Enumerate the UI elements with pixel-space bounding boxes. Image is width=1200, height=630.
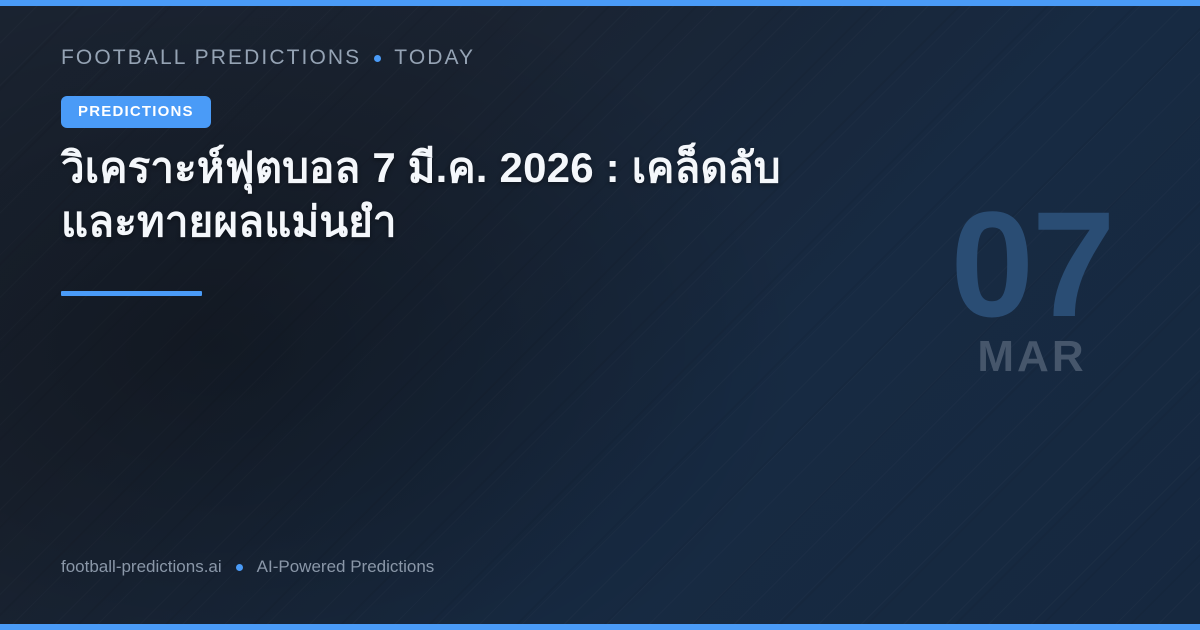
footer-tagline-label: AI-Powered Predictions bbox=[257, 557, 435, 577]
diagonal-shadow-texture bbox=[0, 0, 1200, 630]
diagonal-stripe-texture bbox=[0, 0, 1200, 630]
top-accent-bar bbox=[0, 0, 1200, 6]
kicker-time-label: TODAY bbox=[394, 46, 475, 70]
kicker: FOOTBALL PREDICTIONS TODAY bbox=[61, 46, 475, 70]
vignette-overlay bbox=[0, 0, 1200, 630]
bottom-accent-bar bbox=[0, 624, 1200, 630]
date-watermark: 07 MAR bbox=[922, 200, 1142, 379]
status-badge: PREDICTIONS bbox=[61, 96, 211, 128]
kicker-category-label: FOOTBALL PREDICTIONS bbox=[61, 46, 361, 70]
social-share-card: 07 MAR FOOTBALL PREDICTIONS TODAY PREDIC… bbox=[0, 0, 1200, 630]
title-accent-rule bbox=[61, 291, 202, 296]
bullet-dot-icon bbox=[236, 564, 243, 571]
date-month: MAR bbox=[922, 335, 1142, 379]
footer: football-predictions.ai AI-Powered Predi… bbox=[61, 557, 434, 577]
bullet-dot-icon bbox=[374, 55, 381, 62]
footer-site-label: football-predictions.ai bbox=[61, 557, 222, 577]
date-day: 07 bbox=[922, 200, 1142, 329]
page-title: วิเคราะห์ฟุตบอล 7 มี.ค. 2026 : เคล็ดลับแ… bbox=[61, 141, 821, 249]
